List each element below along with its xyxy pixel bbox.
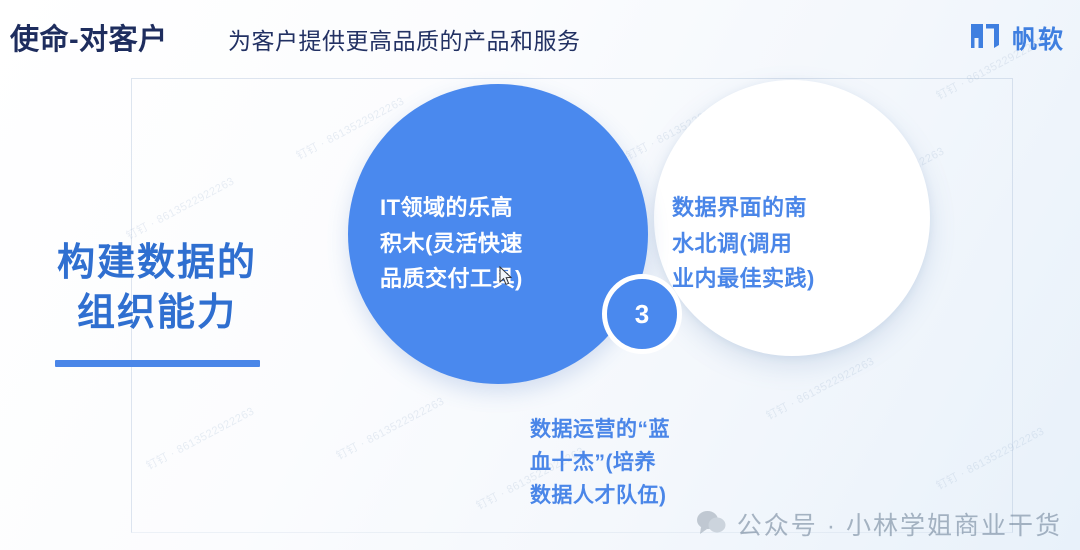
left-heading-underline	[55, 360, 260, 367]
venn-bottom-label: 数据运营的“蓝 血十杰”(培养 数据人才队伍)	[530, 413, 770, 513]
brand-logo: 帆软	[969, 20, 1064, 56]
venn-white-line-2: 水北调(调用	[672, 226, 922, 262]
venn-white-line-3: 业内最佳实践)	[672, 261, 922, 297]
slide-header: 使命-对客户 为客户提供更高品质的产品和服务 帆软	[0, 0, 1080, 74]
venn-bottom-line-2: 血十杰”(培养	[530, 446, 770, 479]
venn-white-line-1: 数据界面的南	[672, 190, 922, 226]
left-heading-line-2: 组织能力	[22, 288, 292, 338]
fanruan-logo-icon	[969, 21, 1003, 56]
brand-logo-text: 帆软	[1012, 20, 1064, 56]
left-heading-block: 构建数据的 组织能力	[22, 238, 292, 367]
page-subtitle: 为客户提供更高品质的产品和服务	[228, 22, 581, 56]
page-title: 使命-对客户	[10, 16, 168, 58]
channel-watermark: 公众号 · 小林学姐商业干货	[696, 506, 1062, 542]
venn-intersection-badge: 3	[602, 274, 682, 354]
venn-white-circle-text: 数据界面的南 水北调(调用 业内最佳实践)	[672, 190, 922, 297]
venn-blue-line-1: IT领域的乐高	[380, 190, 620, 226]
left-heading-line-1: 构建数据的	[22, 238, 292, 288]
venn-bottom-line-1: 数据运营的“蓝	[530, 413, 770, 446]
venn-blue-line-2: 积木(灵活快速	[380, 226, 620, 262]
venn-blue-circle-text: IT领域的乐高 积木(灵活快速 品质交付工具)	[380, 190, 620, 297]
slide-canvas: 钉钉 · 8613522922263 钉钉 · 8613522922263 钉钉…	[0, 0, 1080, 550]
chat-bubble-icon	[696, 509, 726, 540]
venn-blue-line-3: 品质交付工具)	[380, 261, 620, 297]
channel-watermark-text: 公众号 · 小林学姐商业干货	[737, 506, 1062, 542]
venn-badge-number: 3	[635, 299, 649, 330]
